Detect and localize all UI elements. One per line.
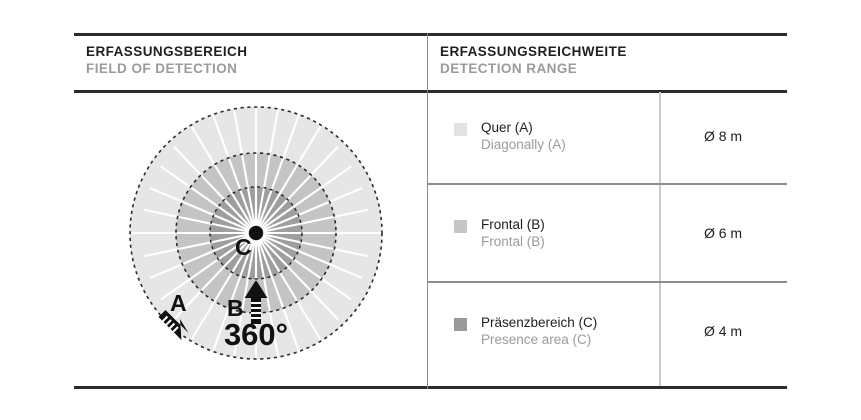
table-top-rule [74,33,787,36]
legend-swatch-b [454,220,467,233]
detection-spec-sheet: C B A [0,0,861,420]
legend-swatch-c [454,318,467,331]
legend-label-en: Presence area (C) [481,332,597,349]
table-header-rule [74,90,787,93]
spec-table: ERFASSUNGSBEREICH FIELD OF DETECTION ERF… [74,33,787,389]
legend-row-a: Quer (A) Diagonally (A) [427,120,659,153]
legend-label-de: Frontal (B) [481,217,545,234]
column-header-en: FIELD OF DETECTION [86,60,247,77]
legend-label-de: Präsenzbereich (C) [481,315,597,332]
column-header-field-of-detection: ERFASSUNGSBEREICH FIELD OF DETECTION [86,43,247,77]
legend-label-c: Präsenzbereich (C) Presence area (C) [481,315,597,348]
legend-label-b: Frontal (B) Frontal (B) [481,217,545,250]
legend-label-en: Frontal (B) [481,234,545,251]
column-header-en: DETECTION RANGE [440,60,627,77]
legend-label-de: Quer (A) [481,120,566,137]
range-value-b: Ø 6 m [659,225,787,241]
row-separator-2 [427,281,787,283]
row-separator-1 [427,183,787,185]
legend-label-en: Diagonally (A) [481,137,566,154]
column-header-de: ERFASSUNGSBEREICH [86,43,247,60]
column-header-detection-range: ERFASSUNGSREICHWEITE DETECTION RANGE [440,43,627,77]
column-header-de: ERFASSUNGSREICHWEITE [440,43,627,60]
table-bottom-rule [74,386,787,389]
range-value-a: Ø 8 m [659,128,787,144]
legend-row-c: Präsenzbereich (C) Presence area (C) [427,315,659,348]
legend-row-b: Frontal (B) Frontal (B) [427,217,659,250]
range-value-c: Ø 4 m [659,323,787,339]
legend-label-a: Quer (A) Diagonally (A) [481,120,566,153]
legend-swatch-a [454,123,467,136]
